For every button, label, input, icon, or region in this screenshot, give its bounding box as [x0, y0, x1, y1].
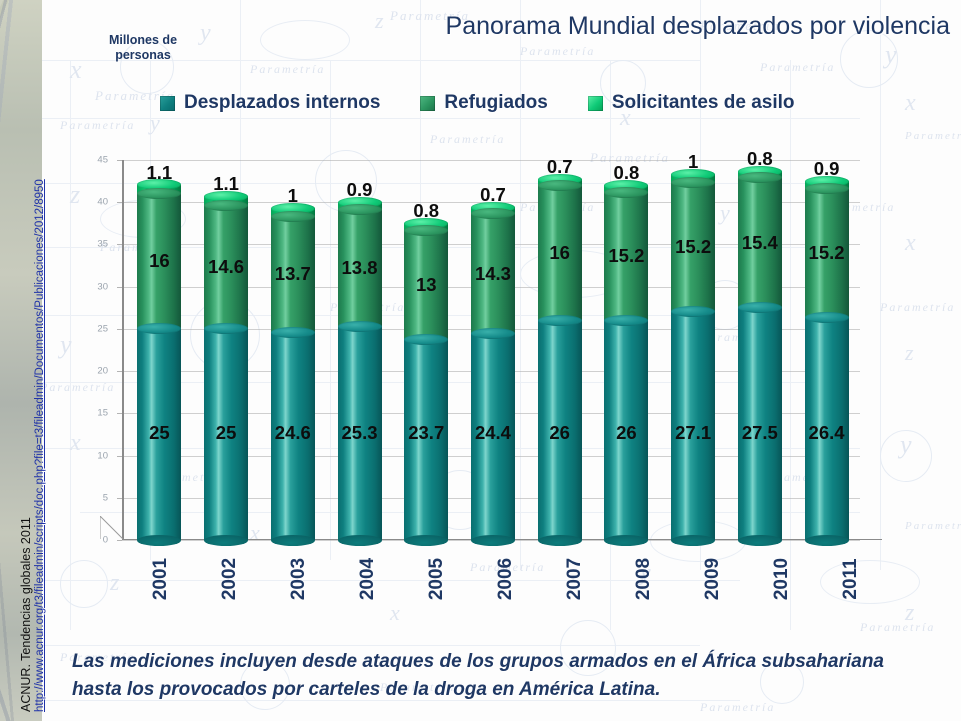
x-axis-tick-label: 2006: [495, 558, 517, 600]
y-tick-label: 45: [97, 155, 108, 166]
x-label-slot: 2001: [139, 540, 183, 615]
chart-footnote: Las mediciones incluyen desde ataques de…: [72, 648, 942, 704]
page-title: Panorama Mundial desplazados por violenc…: [430, 12, 950, 41]
x-axis-tick-label: 2007: [564, 558, 586, 600]
footnote-line-1: Las mediciones incluyen desde ataques de…: [72, 648, 942, 676]
value-label-internos: 25.3: [342, 422, 378, 444]
value-label-internos: 26: [549, 422, 570, 444]
cylinder-top-cap: [538, 315, 582, 326]
x-axis-labels: 2001 2002 2003 2004 2005 2006 2007 2008: [126, 540, 886, 615]
bar-column[interactable]: 1 15.2 27.1: [671, 160, 715, 540]
y-tick-label: 20: [97, 366, 108, 377]
y-axis-unit-label: Millones de personas: [78, 33, 208, 63]
value-label-asilo: 1: [688, 151, 698, 173]
legend-item-asilo[interactable]: Solicitantes de asilo: [588, 92, 795, 114]
legend-label-refugiados: Refugiados: [444, 92, 547, 114]
bar-column[interactable]: 0.9 15.2 26.4: [805, 160, 849, 540]
value-label-refugiados: 14.3: [475, 263, 511, 285]
x-label-slot: 2011: [829, 540, 873, 615]
value-label-asilo: 0.9: [814, 158, 840, 180]
bar-segment-internos[interactable]: 27.1: [671, 311, 715, 540]
x-label-slot: 2008: [622, 540, 666, 615]
bar-segment-internos[interactable]: 26: [538, 320, 582, 540]
cylinder-top-cap: [805, 312, 849, 323]
bar-segment-refugiados[interactable]: 13.8: [338, 210, 382, 327]
bar-column[interactable]: 0.9 13.8 25.3: [338, 160, 382, 540]
x-label-slot: 2003: [277, 540, 321, 615]
value-label-asilo: 0.7: [547, 156, 573, 178]
value-label-internos: 27.1: [675, 422, 711, 444]
y-axis: [122, 160, 124, 540]
bar-segment-refugiados[interactable]: 15.4: [738, 178, 782, 308]
x-axis-tick-label: 2011: [840, 558, 862, 599]
bar-segment-internos[interactable]: 26: [604, 320, 648, 540]
legend-swatch-asilo: [588, 96, 603, 111]
bar-segment-refugiados[interactable]: 15.2: [604, 192, 648, 320]
bar-segment-refugiados[interactable]: 15.2: [671, 183, 715, 311]
axis-corner-3d: [100, 516, 124, 540]
x-axis-tick-label: 2009: [702, 558, 724, 600]
source-url-link[interactable]: http://www.acnur.org/t3/fileadmin/script…: [34, 179, 46, 712]
value-label-refugiados: 16: [549, 242, 570, 264]
value-label-asilo: 0.9: [347, 179, 373, 201]
bar-segment-refugiados[interactable]: 15.2: [805, 189, 849, 317]
slide-canvas: ParametríaParametríaParametríaParametría…: [0, 0, 961, 721]
unit-line-1: Millones de: [78, 33, 208, 48]
y-tick-label: 5: [103, 492, 108, 503]
cylinder-top-cap: [271, 327, 315, 338]
legend-label-asilo: Solicitantes de asilo: [612, 92, 795, 114]
x-label-slot: 2005: [415, 540, 459, 615]
x-label-slot: 2010: [760, 540, 804, 615]
value-label-internos: 26: [616, 422, 637, 444]
value-label-internos: 24.6: [275, 422, 311, 444]
value-label-asilo: 0.8: [747, 148, 773, 170]
y-tick-label: 35: [97, 239, 108, 250]
x-label-slot: 2007: [553, 540, 597, 615]
bar-segment-internos[interactable]: 27.5: [738, 308, 782, 540]
value-label-refugiados: 15.2: [809, 242, 845, 264]
cylinder-top-cap: [604, 315, 648, 326]
footnote-line-2: hasta los provocados por carteles de la …: [72, 676, 942, 704]
y-tick-label: 30: [97, 281, 108, 292]
left-texture-strip: ACNUR. Tendencias globales 2011 http://w…: [0, 0, 42, 721]
source-credit: ACNUR. Tendencias globales 2011: [19, 517, 33, 712]
x-axis-tick-label: 2002: [219, 558, 241, 600]
y-tick-label: 10: [97, 450, 108, 461]
bar-segment-internos[interactable]: 24.6: [271, 332, 315, 540]
cylinder-top-cap: [338, 321, 382, 332]
value-label-internos: 25: [216, 422, 237, 444]
x-label-slot: 2004: [346, 540, 390, 615]
y-tick-label: 15: [97, 408, 108, 419]
cylinder-top-cap: [404, 225, 448, 236]
bar-segment-internos[interactable]: 23.7: [404, 340, 448, 540]
bar-segment-refugiados[interactable]: 16: [538, 185, 582, 320]
value-label-asilo: 1: [288, 185, 298, 207]
value-label-asilo: 0.8: [614, 162, 640, 184]
x-axis-tick-label: 2001: [150, 558, 172, 600]
value-label-internos: 24.4: [475, 422, 511, 444]
value-label-internos: 27.5: [742, 422, 778, 444]
value-label-asilo: 0.8: [413, 200, 439, 222]
cylinder-top-cap: [271, 211, 315, 222]
value-label-refugiados: 16: [149, 250, 170, 272]
x-axis-tick-label: 2008: [633, 558, 655, 600]
value-label-refugiados: 15.2: [675, 236, 711, 258]
bar-segment-internos[interactable]: 26.4: [805, 317, 849, 540]
x-axis-tick-label: 2003: [288, 558, 310, 600]
bar-segment-refugiados[interactable]: 16: [137, 194, 181, 329]
chart-plot-area: 051015202530354045 1.1 16 25: [100, 160, 860, 540]
bar-column[interactable]: 0.8 13 23.7: [404, 160, 448, 540]
y-tick-label: 40: [97, 197, 108, 208]
value-label-asilo: 0.7: [480, 184, 506, 206]
legend-label-internos: Desplazados internos: [184, 92, 380, 114]
legend-swatch-refugiados: [420, 96, 435, 111]
cylinder-top-cap: [471, 208, 515, 219]
bar-segment-refugiados[interactable]: 14.3: [471, 213, 515, 334]
value-label-internos: 23.7: [408, 422, 444, 444]
x-label-slot: 2002: [208, 540, 252, 615]
bar-segment-internos[interactable]: 24.4: [471, 334, 515, 540]
value-label-refugiados: 14.6: [208, 256, 244, 278]
bar-column[interactable]: 0.7 16 26: [538, 160, 582, 540]
bar-segment-refugiados[interactable]: 13.7: [271, 217, 315, 333]
x-axis-tick-label: 2005: [426, 558, 448, 600]
legend-swatch-internos: [160, 96, 175, 111]
value-label-refugiados: 13: [416, 274, 437, 296]
x-axis-tick-label: 2010: [771, 558, 793, 600]
cylinder-top-cap: [604, 187, 648, 198]
bar-column[interactable]: 0.7 14.3 24.4: [471, 160, 515, 540]
bar-segment-internos[interactable]: 25.3: [338, 326, 382, 540]
value-label-asilo: 1.1: [213, 173, 239, 195]
legend-item-internos[interactable]: Desplazados internos: [160, 92, 380, 114]
legend-item-refugiados[interactable]: Refugiados: [420, 92, 547, 114]
bar-column[interactable]: 0.8 15.4 27.5: [738, 160, 782, 540]
value-label-internos: 26.4: [809, 422, 845, 444]
y-tick-mark: [117, 540, 122, 541]
y-tick-label: 25: [97, 323, 108, 334]
x-label-slot: 2009: [691, 540, 735, 615]
x-label-slot: 2006: [484, 540, 528, 615]
bar-group: 1.1 16 25 1.1 14.6: [126, 160, 860, 540]
x-axis-tick-label: 2004: [357, 558, 379, 600]
bar-column[interactable]: 1.1 16 25: [137, 160, 181, 540]
value-label-refugiados: 13.8: [342, 257, 378, 279]
bar-segment-internos[interactable]: 25: [204, 329, 248, 540]
value-label-refugiados: 15.4: [742, 232, 778, 254]
bar-segment-refugiados[interactable]: 13: [404, 230, 448, 340]
value-label-refugiados: 13.7: [275, 263, 311, 285]
value-label-asilo: 1.1: [147, 162, 173, 184]
chart-legend: Desplazados internos Refugiados Solicita…: [160, 92, 850, 114]
bar-segment-refugiados[interactable]: 14.6: [204, 206, 248, 329]
value-label-internos: 25: [149, 422, 170, 444]
bar-column[interactable]: 1 13.7 24.6: [271, 160, 315, 540]
cylinder-top-cap: [538, 180, 582, 191]
bar-segment-internos[interactable]: 25: [137, 329, 181, 540]
value-label-refugiados: 15.2: [608, 245, 644, 267]
cylinder-top-cap: [671, 306, 715, 317]
bar-column[interactable]: 0.8 15.2 26: [604, 160, 648, 540]
unit-line-2: personas: [78, 48, 208, 63]
bar-column[interactable]: 1.1 14.6 25: [204, 160, 248, 540]
